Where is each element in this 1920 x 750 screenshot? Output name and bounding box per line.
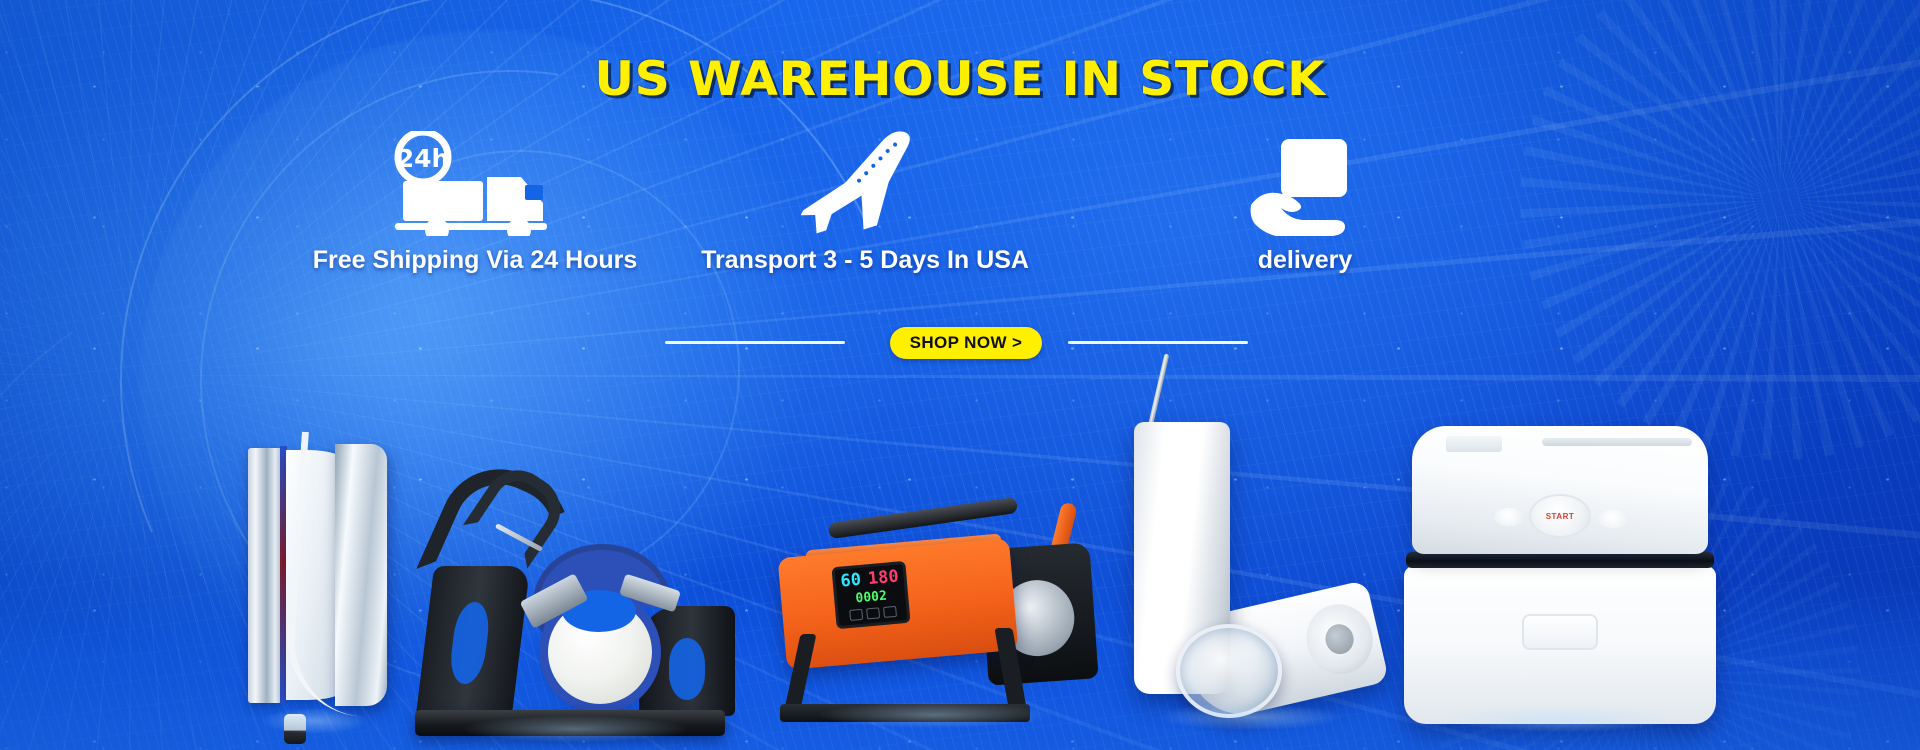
tumbler-bottom-cap (1300, 598, 1380, 681)
display-timer: 0002 (855, 590, 887, 606)
product-reflection (1159, 704, 1341, 730)
product-white-sublimation-oven: START (1400, 426, 1720, 726)
feature-label: Transport 3 - 5 Days In USA (655, 246, 1075, 275)
feature-label: Free Shipping Via 24 Hours (265, 246, 685, 275)
display-current-temp: 60 (840, 572, 862, 591)
product-black-manual-mug-heat-press (415, 446, 735, 736)
page-title: US WAREHOUSE IN STOCK (0, 52, 1920, 107)
oven-body (1404, 566, 1716, 724)
heating-plate-back (248, 448, 282, 703)
promo-banner: US WAREHOUSE IN STOCK 24h (0, 0, 1920, 750)
oven-start-label: START (1546, 512, 1575, 521)
hand-holding-box-icon (1190, 128, 1420, 236)
display-buttons[interactable] (849, 606, 897, 621)
delivery-truck-24h-icon: 24h (265, 128, 685, 236)
feature-row: 24h Free Shipping Via 24 Hours (0, 128, 1920, 308)
svg-text:24h: 24h (397, 144, 450, 173)
oven-warning-label (1446, 436, 1502, 452)
product-mug-press-heating-element (240, 438, 390, 728)
product-orange-mug-heat-press: 60 180 0002 (770, 462, 1100, 722)
product-showcase: 60 180 0002 (0, 320, 1920, 750)
oven-lid: START (1412, 426, 1708, 554)
oven-start-knob[interactable]: START (1529, 494, 1591, 538)
product-reflection (820, 702, 1051, 728)
press-control-display: 60 180 0002 (831, 561, 910, 629)
oven-door-handle (1522, 614, 1598, 650)
oven-left-button[interactable] (1494, 508, 1524, 526)
feature-free-shipping: 24h Free Shipping Via 24 Hours (265, 128, 685, 275)
feature-label: delivery (1190, 246, 1420, 275)
oven-right-button[interactable] (1598, 510, 1630, 528)
display-target-temp: 180 (867, 569, 899, 589)
feature-transport: Transport 3 - 5 Days In USA (655, 128, 1075, 275)
oven-vent-slot (1542, 438, 1692, 446)
feature-delivery: delivery (1190, 128, 1420, 275)
press-left-frame (416, 566, 530, 716)
product-reflection (463, 716, 687, 742)
product-white-sublimation-tumblers (1120, 394, 1380, 724)
blank-mug (548, 600, 652, 704)
oven-seam-band (1406, 552, 1714, 568)
press-handle (828, 497, 1018, 539)
airplane-icon (655, 128, 1075, 236)
product-reflection (263, 708, 368, 734)
product-reflection (1448, 706, 1672, 732)
